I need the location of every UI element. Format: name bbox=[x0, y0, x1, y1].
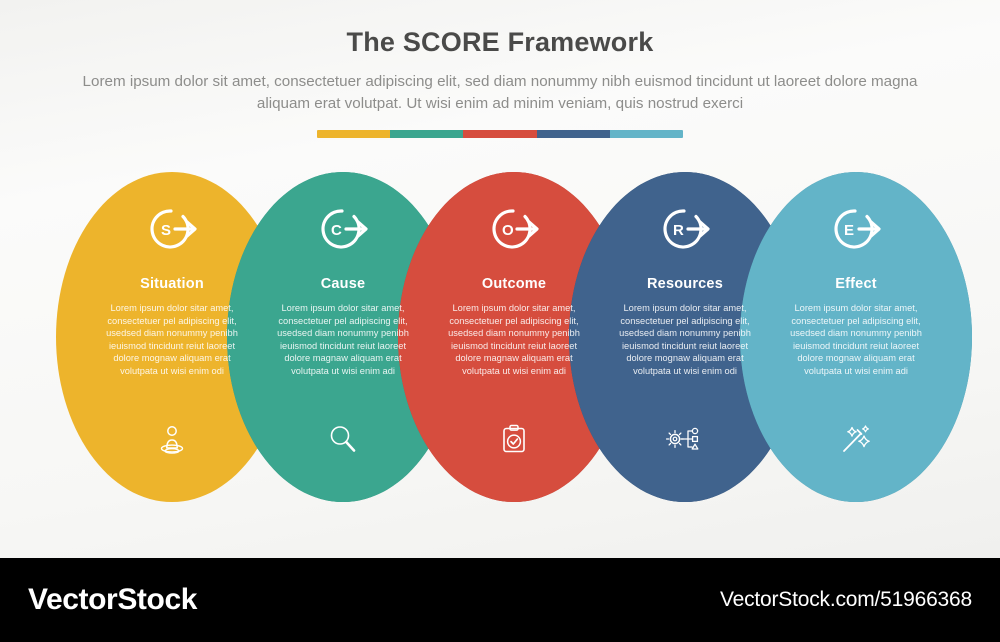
infographic-stage: The SCORE Framework Lorem ipsum dolor si… bbox=[0, 0, 1000, 558]
section-body: Lorem ipsum dolor sitar amet, consectetu… bbox=[780, 302, 932, 378]
section-body: Lorem ipsum dolor sitar amet, consectetu… bbox=[609, 302, 761, 378]
svg-text:S: S bbox=[161, 222, 171, 239]
infographic-canvas: The SCORE Framework Lorem ipsum dolor si… bbox=[0, 0, 1000, 642]
circular-arrow-letter-r-icon: R bbox=[644, 202, 726, 256]
person-location-icon bbox=[151, 418, 193, 460]
section-title: Outcome bbox=[482, 276, 546, 292]
section-body: Lorem ipsum dolor sitar amet, consectetu… bbox=[438, 302, 590, 378]
gear-network-icon bbox=[664, 418, 706, 460]
clipboard-check-icon bbox=[493, 418, 535, 460]
svg-text:O: O bbox=[502, 222, 514, 239]
circular-arrow-letter-o-icon: O bbox=[473, 202, 555, 256]
watermark-footer: VectorStock VectorStock.com/51966368 bbox=[0, 558, 1000, 642]
footer-brand: VectorStock bbox=[28, 583, 197, 617]
svg-text:E: E bbox=[844, 222, 854, 239]
section-title: Situation bbox=[140, 276, 204, 292]
section-title: Cause bbox=[321, 276, 366, 292]
circular-arrow-letter-c-icon: C bbox=[302, 202, 384, 256]
footer-url: VectorStock.com/51966368 bbox=[720, 588, 972, 612]
section-effect[interactable]: E Effect Lorem ipsum dolor sitar amet, c… bbox=[740, 172, 972, 502]
magic-wand-sparkle-icon bbox=[835, 418, 877, 460]
svg-text:C: C bbox=[331, 222, 342, 239]
circular-arrow-letter-s-icon: S bbox=[131, 202, 213, 256]
magnifying-glass-icon bbox=[322, 418, 364, 460]
section-title: Resources bbox=[647, 276, 723, 292]
section-body: Lorem ipsum dolor sitar amet, consectetu… bbox=[267, 302, 419, 378]
svg-text:R: R bbox=[673, 222, 684, 239]
circular-arrow-letter-e-icon: E bbox=[815, 202, 897, 256]
section-body: Lorem ipsum dolor sitar amet, consectetu… bbox=[96, 302, 248, 378]
section-title: Effect bbox=[835, 276, 877, 292]
